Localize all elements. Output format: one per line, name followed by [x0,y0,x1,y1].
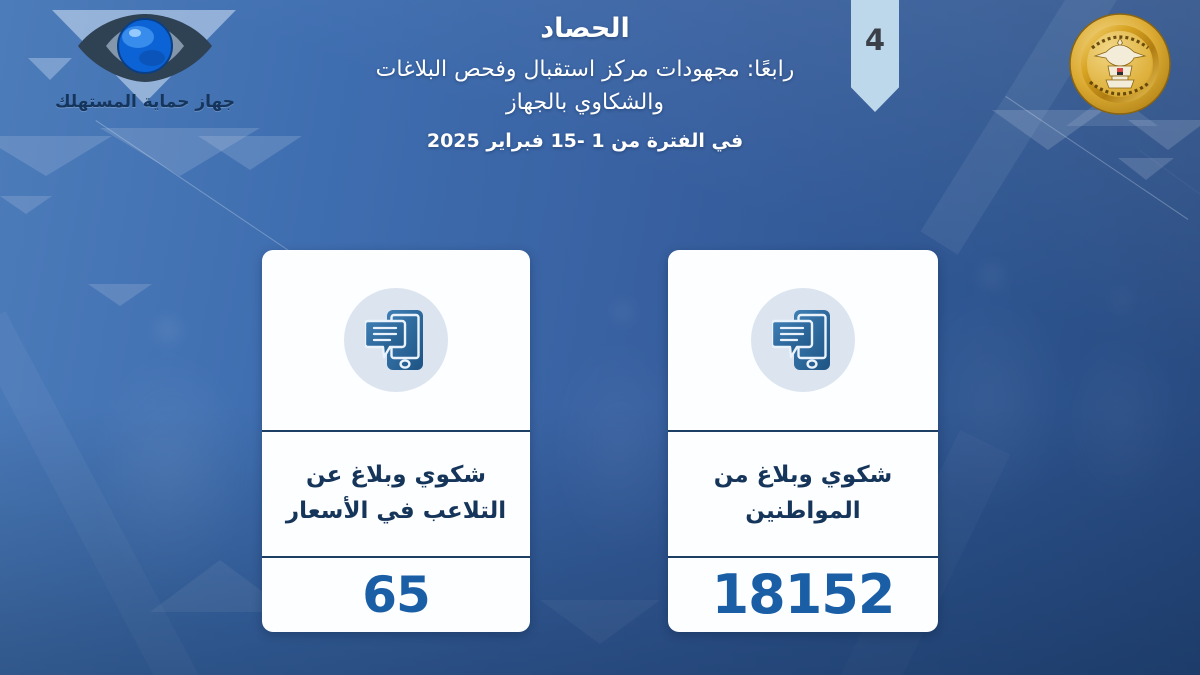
card-label-zone: شكوي وبلاغ عن التلاعب في الأسعار [262,432,530,556]
mobile-complaint-icon [365,307,427,373]
card-label: شكوي وبلاغ عن التلاعب في الأسعار [280,458,512,529]
icon-circle-background [751,288,855,392]
icon-circle-background [344,288,448,392]
stat-card-prices: شكوي وبلاغ عن التلاعب في الأسعار 65 [262,250,530,632]
eagle-of-saladin-icon [1068,12,1172,116]
card-value: 65 [362,570,430,620]
card-value-zone: 18152 [668,558,938,632]
card-value-zone: 65 [262,558,530,632]
egyptian-cabinet-emblem [1068,12,1172,116]
eye-icon [72,12,218,98]
card-icon-zone [262,250,530,430]
infographic-slide: جهاز حماية المستهلك الحصاد رابعًا: مجهود… [0,0,1200,675]
card-label: شكوي وبلاغ من المواطنين [686,458,920,529]
stat-card-citizens: شكوي وبلاغ من المواطنين 18152 [668,250,938,632]
step-number-value: 4 [865,26,885,55]
page-title: الحصاد [330,14,840,44]
card-value: 18152 [712,568,895,622]
mobile-complaint-icon [772,307,834,373]
subtitle: رابعًا: مجهودات مركز استقبال وفحص البلاغ… [330,53,840,120]
card-icon-zone [668,250,938,430]
title-block: الحصاد رابعًا: مجهودات مركز استقبال وفحص… [330,14,840,152]
card-label-zone: شكوي وبلاغ من المواطنين [668,432,938,556]
period-label: في الفترة من 1 -15 فبراير 2025 [330,130,840,152]
consumer-protection-agency-caption: جهاز حماية المستهلك [20,92,270,112]
logo-backdrop-triangle-small [28,58,72,80]
consumer-protection-agency-logo: جهاز حماية المستهلك [20,6,270,130]
